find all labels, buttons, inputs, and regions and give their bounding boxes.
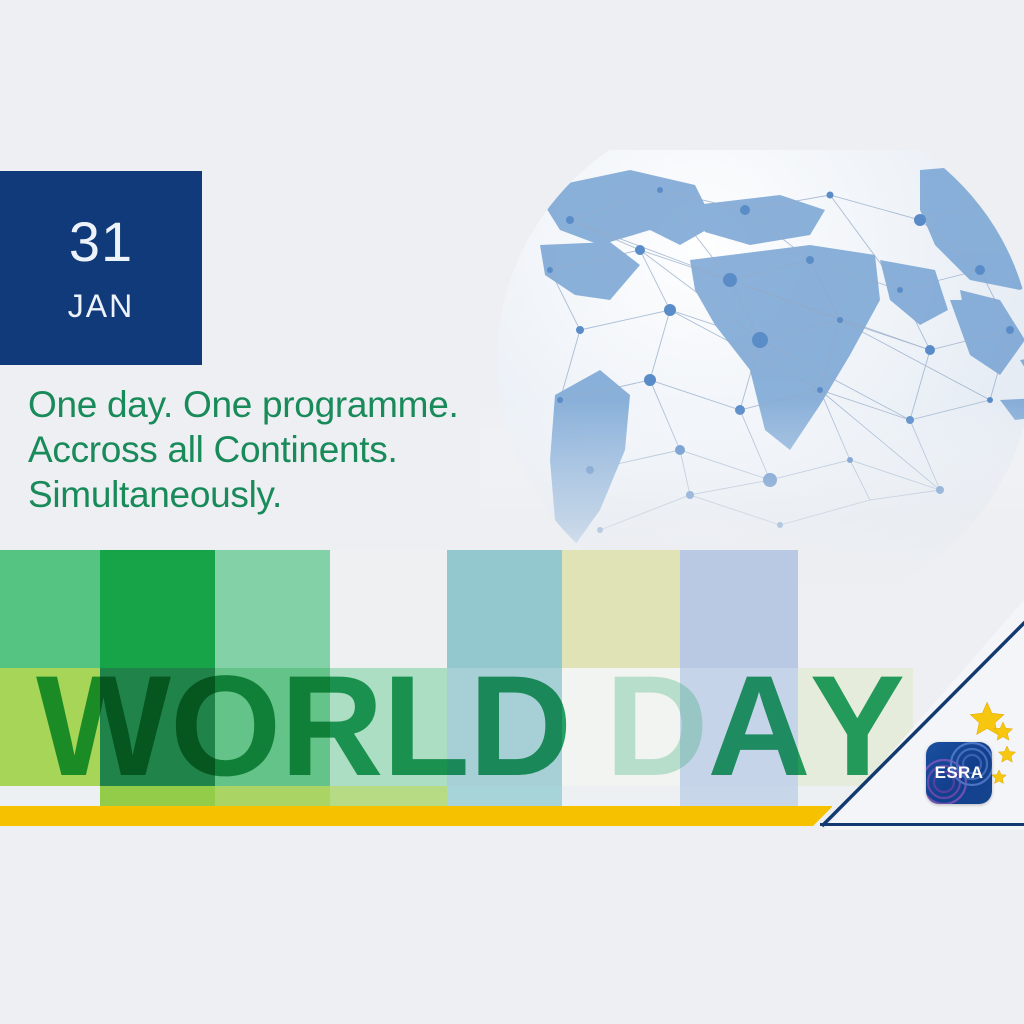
- tagline-line-3: Simultaneously.: [28, 472, 648, 517]
- wordmark-letter: D: [605, 652, 707, 802]
- yellow-accent-stripe: [0, 806, 832, 826]
- tagline-line-2: Accross all Continents.: [28, 427, 648, 472]
- date-day: 31: [69, 214, 133, 270]
- date-badge: 31 JAN: [0, 171, 202, 365]
- world-day-wordmark: WORLDDAY: [0, 652, 900, 802]
- tagline-line-1: One day. One programme.: [28, 382, 648, 427]
- tagline: One day. One programme. Accross all Cont…: [28, 382, 648, 517]
- banner-canvas: WORLDDAY 31 JAN One day. One programme. …: [0, 0, 1024, 1024]
- esra-label: ESRA: [926, 742, 992, 804]
- wordmark-letter: L: [383, 652, 469, 802]
- wordmark-letter: D: [469, 652, 571, 802]
- navy-baseline-rule: [820, 823, 1024, 826]
- wordmark-letter: O: [170, 652, 280, 802]
- esra-badge: ESRA: [926, 742, 992, 804]
- date-month: JAN: [68, 290, 134, 322]
- wordmark-letter: W: [36, 652, 170, 802]
- esra-logo[interactable]: ESRA: [908, 692, 1020, 810]
- globe-illustration: [480, 150, 1024, 590]
- wordmark-letter: R: [280, 652, 382, 802]
